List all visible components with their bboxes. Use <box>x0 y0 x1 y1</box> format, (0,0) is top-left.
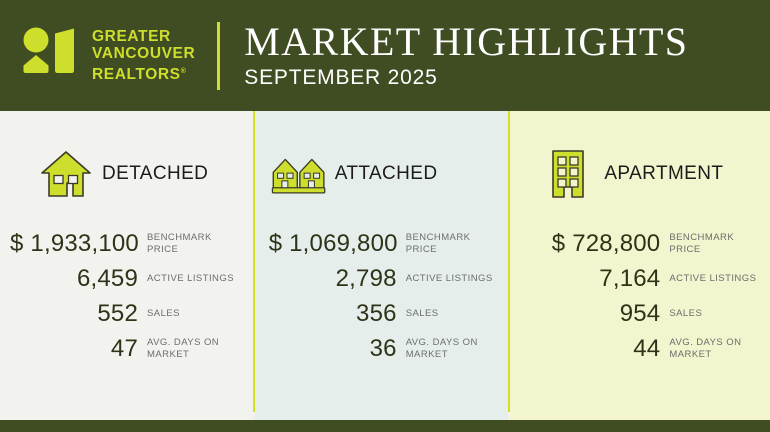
house-icon <box>36 144 96 204</box>
page-subtitle: SEPTEMBER 2025 <box>244 65 770 91</box>
stat-value-active-listings: 2,798 <box>269 265 397 293</box>
stat-value-active-listings: 7,164 <box>532 265 660 293</box>
header-vertical-divider <box>217 22 220 90</box>
title-block: MARKET HIGHLIGHTS SEPTEMBER 2025 <box>244 21 770 91</box>
brand-wordmark: GREATER VANCOUVER REALTORS® <box>92 28 195 84</box>
stat-value-sales: 954 <box>532 300 660 328</box>
stat-row: 552 SALES <box>10 296 245 331</box>
column-header-detached: DETACHED <box>0 142 253 206</box>
stat-row: 44 AVG. DAYS ON MARKET <box>532 331 760 366</box>
stat-row: 7,164 ACTIVE LISTINGS <box>532 261 760 296</box>
stat-label-active-listings: ACTIVE LISTINGS <box>406 273 501 285</box>
stat-value-benchmark-price: $ 728,800 <box>532 230 660 258</box>
column-detached: DETACHED $ 1,933,100 BENCHMARK PRICE 6,4… <box>0 111 253 420</box>
stat-label-benchmark-price: BENCHMARK PRICE <box>406 232 501 255</box>
column-header-attached: ATTACHED <box>255 142 509 206</box>
apartment-building-icon <box>538 144 598 204</box>
stat-row: 2,798 ACTIVE LISTINGS <box>269 261 501 296</box>
stat-value-benchmark-price: $ 1,933,100 <box>10 230 138 258</box>
stat-value-avg-days-on-market: 47 <box>10 335 138 363</box>
column-label-apartment: APARTMENT <box>604 163 723 185</box>
stat-row: 356 SALES <box>269 296 501 331</box>
stats-list-detached: $ 1,933,100 BENCHMARK PRICE 6,459 ACTIVE… <box>0 226 253 366</box>
stat-row: $ 728,800 BENCHMARK PRICE <box>532 226 760 261</box>
header-bar: GREATER VANCOUVER REALTORS® MARKET HIGHL… <box>0 0 770 111</box>
column-label-detached: DETACHED <box>102 163 208 185</box>
duplex-icon <box>269 144 329 204</box>
footer-bar <box>0 420 770 432</box>
stat-label-active-listings: ACTIVE LISTINGS <box>147 273 245 285</box>
column-attached: ATTACHED $ 1,069,800 BENCHMARK PRICE 2,7… <box>255 111 509 420</box>
brand-wordmark-line3: REALTORS® <box>92 63 195 84</box>
stats-columns: DETACHED $ 1,933,100 BENCHMARK PRICE 6,4… <box>0 111 770 420</box>
stats-list-attached: $ 1,069,800 BENCHMARK PRICE 2,798 ACTIVE… <box>255 226 509 366</box>
stat-label-benchmark-price: BENCHMARK PRICE <box>669 232 760 255</box>
stat-label-sales: SALES <box>147 308 245 320</box>
stat-label-avg-days-on-market: AVG. DAYS ON MARKET <box>147 337 245 360</box>
brand-wordmark-line2: VANCOUVER <box>92 45 195 63</box>
stat-label-sales: SALES <box>406 308 501 320</box>
stat-row: $ 1,069,800 BENCHMARK PRICE <box>269 226 501 261</box>
stat-label-avg-days-on-market: AVG. DAYS ON MARKET <box>669 337 760 360</box>
stat-label-active-listings: ACTIVE LISTINGS <box>669 273 760 285</box>
stat-value-sales: 552 <box>10 300 138 328</box>
stat-value-avg-days-on-market: 44 <box>532 335 660 363</box>
greater-vancouver-realtors-logo-icon <box>20 25 80 87</box>
column-apartment: APARTMENT $ 728,800 BENCHMARK PRICE 7,16… <box>510 111 770 420</box>
stat-value-avg-days-on-market: 36 <box>269 335 397 363</box>
market-highlights-infographic: GREATER VANCOUVER REALTORS® MARKET HIGHL… <box>0 0 770 432</box>
stat-label-avg-days-on-market: AVG. DAYS ON MARKET <box>406 337 501 360</box>
brand-logo: GREATER VANCOUVER REALTORS® <box>20 25 195 87</box>
stat-value-sales: 356 <box>269 300 397 328</box>
stat-value-active-listings: 6,459 <box>10 265 138 293</box>
stat-row: $ 1,933,100 BENCHMARK PRICE <box>10 226 245 261</box>
stat-label-sales: SALES <box>669 308 760 320</box>
column-header-apartment: APARTMENT <box>510 142 770 206</box>
stat-row: 36 AVG. DAYS ON MARKET <box>269 331 501 366</box>
stat-row: 6,459 ACTIVE LISTINGS <box>10 261 245 296</box>
stat-row: 47 AVG. DAYS ON MARKET <box>10 331 245 366</box>
stat-row: 954 SALES <box>532 296 760 331</box>
stat-label-benchmark-price: BENCHMARK PRICE <box>147 232 245 255</box>
stats-list-apartment: $ 728,800 BENCHMARK PRICE 7,164 ACTIVE L… <box>510 226 770 366</box>
page-title: MARKET HIGHLIGHTS <box>244 21 770 63</box>
column-label-attached: ATTACHED <box>335 163 438 185</box>
brand-wordmark-line1: GREATER <box>92 28 195 46</box>
registered-trademark-mark: ® <box>181 68 187 75</box>
stat-value-benchmark-price: $ 1,069,800 <box>269 230 397 258</box>
